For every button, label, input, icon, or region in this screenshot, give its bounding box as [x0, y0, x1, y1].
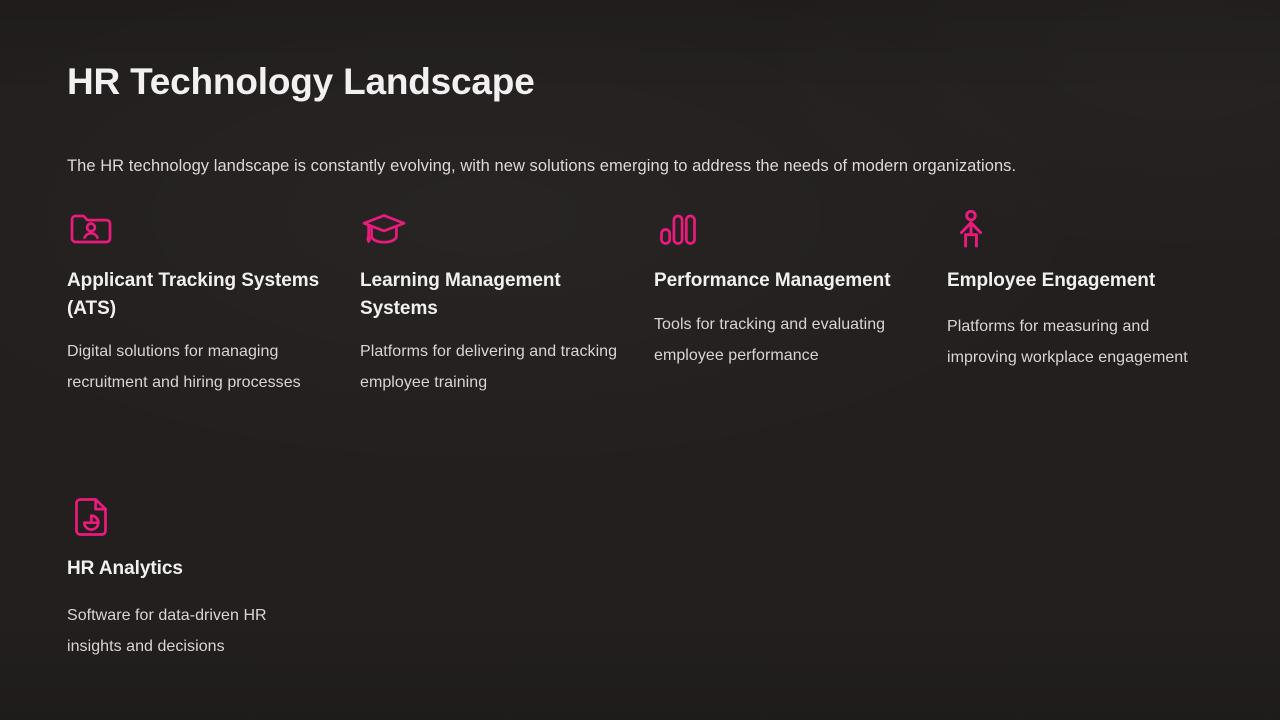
folder-user-icon	[67, 205, 115, 253]
card-title: Applicant Tracking Systems (ATS)	[67, 267, 329, 322]
page-subtitle: The HR technology landscape is constantl…	[67, 157, 1016, 176]
card-hr-analytics: HR Analytics Software for data-driven HR…	[67, 493, 329, 662]
card-employee-engagement: Employee Engagement Platforms for measur…	[947, 205, 1209, 373]
document-pie-chart-icon	[67, 493, 115, 541]
graduation-cap-icon	[360, 205, 408, 253]
card-description: Platforms for measuring and improving wo…	[947, 311, 1209, 373]
card-learning-management-systems: Learning Management Systems Platforms fo…	[360, 205, 622, 398]
card-description: Digital solutions for managing recruitme…	[67, 336, 329, 398]
card-applicant-tracking-systems: Applicant Tracking Systems (ATS) Digital…	[67, 205, 329, 398]
card-description: Platforms for delivering and tracking em…	[360, 336, 622, 398]
card-description: Tools for tracking and evaluating employ…	[654, 309, 916, 371]
slide-canvas: HR Technology Landscape The HR technolog…	[0, 0, 1280, 720]
card-description: Software for data-driven HR insights and…	[67, 600, 317, 662]
bar-chart-icon	[654, 205, 702, 253]
card-title: Learning Management Systems	[360, 267, 622, 322]
card-title: Performance Management	[654, 267, 916, 295]
card-title: HR Analytics	[67, 555, 329, 583]
card-performance-management: Performance Management Tools for trackin…	[654, 205, 916, 371]
person-standing-icon	[947, 205, 995, 253]
page-title: HR Technology Landscape	[67, 60, 535, 104]
card-title: Employee Engagement	[947, 267, 1209, 295]
